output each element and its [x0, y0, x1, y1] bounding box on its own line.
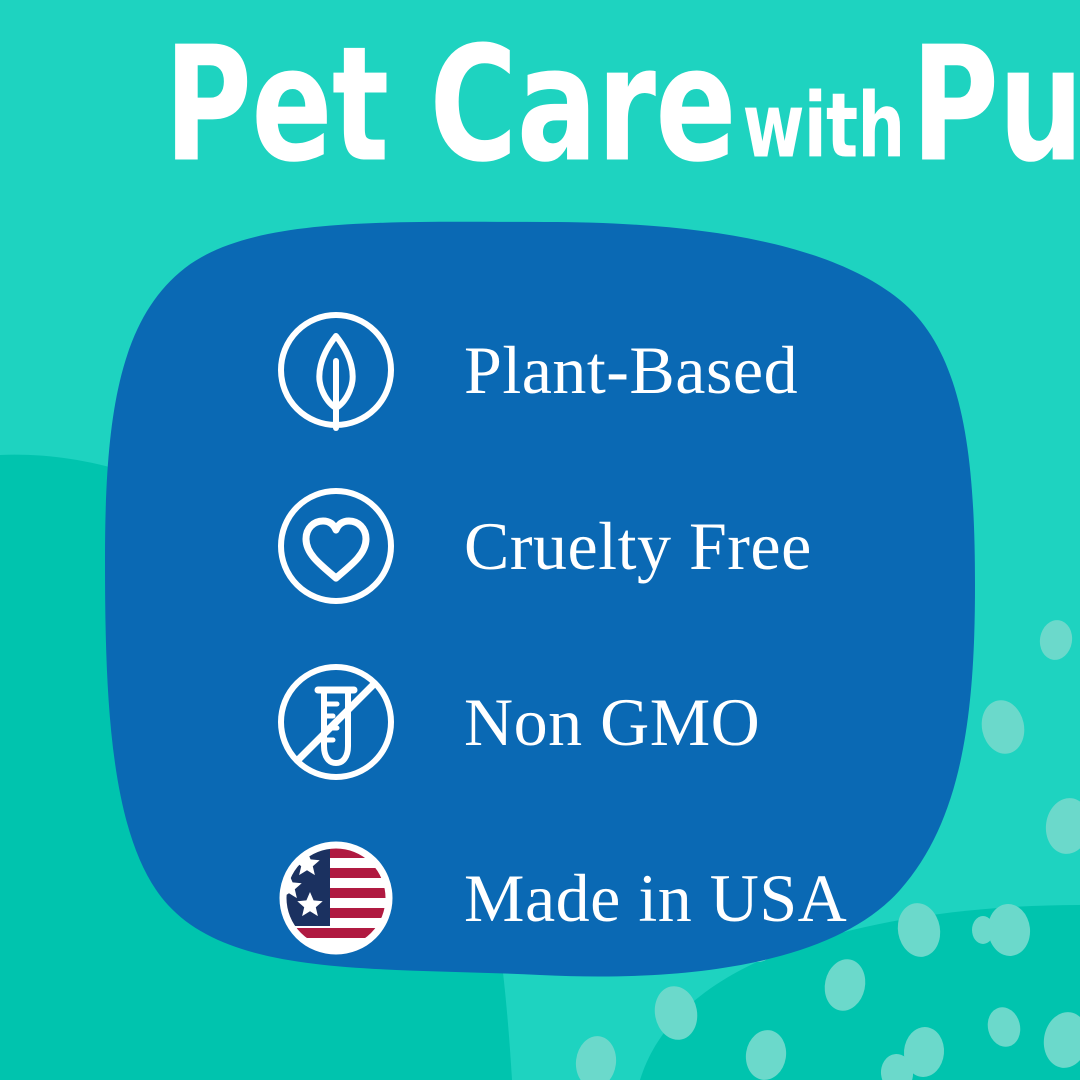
- feature-row-cruelty-free: Cruelty Free: [268, 458, 908, 634]
- feature-row-plant-based: Plant-Based: [268, 282, 908, 458]
- usa-flag-badge-icon: [268, 830, 404, 966]
- pet-care-with-purpose-poster: Pet CarewithPurpose® Plant-Based: [0, 0, 1080, 1080]
- page-title: Pet CarewithPurpose®: [0, 26, 1080, 176]
- headline-text: Pet CarewithPurpose®: [164, 26, 1080, 185]
- feature-label-cruelty-free: Cruelty Free: [464, 512, 812, 580]
- feature-row-made-in-usa: Made in USA: [268, 810, 908, 986]
- headline-part2: Purpose: [911, 26, 1080, 185]
- headline-connector: with: [736, 73, 911, 177]
- feature-label-plant-based: Plant-Based: [464, 336, 798, 404]
- feature-list: Plant-Based Cruelty Free: [268, 282, 908, 986]
- leaf-in-circle-icon: [268, 302, 404, 438]
- feature-label-non-gmo: Non GMO: [464, 688, 760, 756]
- feature-label-made-in-usa: Made in USA: [464, 864, 847, 932]
- feature-row-non-gmo: Non GMO: [268, 634, 908, 810]
- no-gmo-test-tube-icon: [268, 654, 404, 790]
- headline-part1: Pet Care: [164, 26, 736, 185]
- heart-in-circle-icon: [268, 478, 404, 614]
